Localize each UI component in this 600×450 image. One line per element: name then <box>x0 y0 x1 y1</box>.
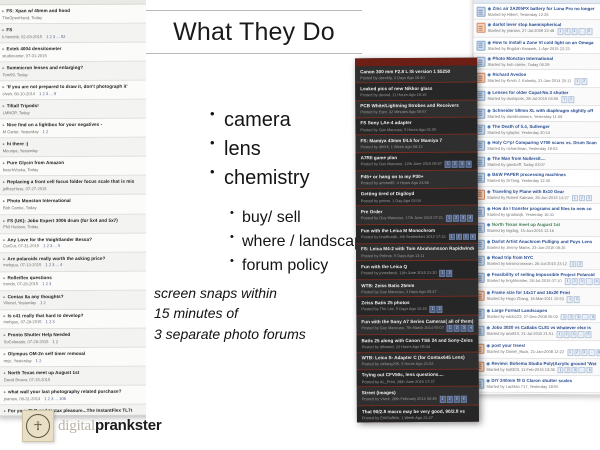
pagination-links[interactable]: 12 <box>570 261 584 268</box>
thread-title[interactable]: PCB White/Lightning Strobes and Receiver… <box>360 103 473 109</box>
right-thread-row[interactable]: ◉Traveling by Plane with 8x10 GearStarte… <box>473 186 600 204</box>
logo-wordmark: digitalprankster <box>58 417 162 435</box>
thread-body: ◉B&W PAPER processing machinesStarted by… <box>487 172 600 184</box>
pagination-links[interactable]: 1 2 <box>43 129 49 134</box>
pagination-page[interactable]: 2 <box>574 296 580 303</box>
thread-meta: David Brown, 07-15-2015 <box>4 376 143 382</box>
thread-meta: Posted by jonesbeck, 11th June 2015 21:3… <box>361 270 474 277</box>
thread-title[interactable]: ◉Large Format Landscapes <box>487 308 600 314</box>
left-thread-row[interactable]: ▸Nice find on a lightbox for your negati… <box>0 119 147 139</box>
pagination-page[interactable]: 1 <box>574 78 580 85</box>
thread-meta: Started by davidmariners, Yesterday 11:0… <box>487 113 600 119</box>
thread-meta: Posted by Pebrus, 5 Days Ago 13:11 <box>361 252 474 258</box>
pagination-links[interactable]: 123...6 <box>558 367 594 374</box>
thread-marker-icon: ▸ <box>3 123 5 128</box>
pagination-links[interactable]: 1 2 3 ... 4 <box>45 262 62 267</box>
thread-meta: trondo, 07-28-20151 2 3 <box>3 281 142 287</box>
thread-marker-icon: ▸ <box>3 199 5 204</box>
right-thread-row[interactable]: ◉Lenses for older Copal-No.3 shutterStar… <box>473 88 600 106</box>
thread-read-icon <box>476 91 485 101</box>
thread-title[interactable]: ◉Jobo 3020 vs Catlabs CL81 vs whatever e… <box>487 325 600 331</box>
thread-meta: Posted by dwood, 11 Hours Ago 19:10 <box>360 92 473 98</box>
pagination-page[interactable]: 1 <box>561 96 567 103</box>
pagination-page[interactable]: 2 <box>447 270 453 277</box>
pagination-page[interactable]: 2 <box>568 96 574 103</box>
thread-title[interactable]: ▸Any Love for the Voightlander Bessa? <box>3 236 142 242</box>
thread-marker-icon: ▸ <box>3 256 5 261</box>
left-thread-row[interactable]: ▸Summicron lenses and enlarging?Tom99, T… <box>0 62 146 82</box>
thread-body: ◉Frame size for 14x17 and 16x20 PrintSta… <box>487 290 600 303</box>
pagination-links[interactable]: 1 2 <box>52 339 58 344</box>
pagination-page[interactable]: 1 <box>567 296 573 303</box>
pagination-page[interactable]: ... <box>579 367 586 374</box>
pagination-page[interactable]: ... <box>577 332 584 339</box>
dark-thread-row[interactable]: FS: Leica M4-2 with Tom Abrahamsson Rapi… <box>356 244 478 262</box>
thread-meta: Posted by drlowed, 23 Hours Ago 05:44 <box>362 344 475 350</box>
thread-meta: Started by bob carnie, Today 06:29 <box>487 62 600 68</box>
left-thread-row[interactable]: ▸Tiltall Tripods!LMNOP, Today <box>0 100 147 120</box>
pagination-page[interactable]: 1 <box>567 349 573 356</box>
pagination-page[interactable]: 4 <box>466 161 472 168</box>
thread-meta: Started by Jimmy Maths, 23-Jun-2015 09:2… <box>487 244 600 250</box>
thread-title[interactable]: ◉Holy Cr*p! Comparing V700 scans vs. Dru… <box>487 140 600 146</box>
pagination-page[interactable]: 1 <box>430 306 436 313</box>
right-thread-row[interactable]: ◉Richard AvedonStarted by Kevin J. Kolos… <box>473 70 600 88</box>
pagination-links[interactable]: 123...9 <box>561 314 597 321</box>
thread-body: ◉Large Format LandscapesStarted by eddo1… <box>487 308 600 321</box>
thread-meta: Mounpa, Yesterday <box>3 148 142 154</box>
thread-status-icon: ◉ <box>486 378 490 383</box>
right-forum-screenshot[interactable]: ◉Zinc air 2A205PX battery for Luna Pro n… <box>471 0 600 395</box>
right-thread-row[interactable]: ◉How to install a Zone VI cold light on … <box>473 38 600 55</box>
pagination-page[interactable]: 6 <box>594 279 600 286</box>
dark-thread-row[interactable]: Trying out CFV50c, lens questions....Pos… <box>357 370 479 388</box>
thread-marker-icon: ▸ <box>2 8 4 13</box>
thread-title[interactable]: ◉Schneider 58mm XL with diaphragm slight… <box>487 107 600 113</box>
dark-thread-row[interactable]: Fun with the Sony A7 Series Cameras( all… <box>356 316 478 336</box>
thread-unread-icon <box>476 73 485 83</box>
dark-thread-row[interactable]: Zeiss Batis 25 photosPosted by The Lite,… <box>356 297 478 317</box>
dark-thread-row[interactable]: FS: Mamiya 43mm f/4.5 for Mamiya 7Posted… <box>355 135 477 153</box>
pagination-page[interactable]: 1 <box>565 279 571 286</box>
pagination-page[interactable]: 4 <box>470 233 476 240</box>
thread-meta: TheOpenHand, Today <box>2 14 141 20</box>
dark-thread-row[interactable]: Batis 25 along with Canon TSE 24 and Son… <box>356 335 478 353</box>
pagination-page[interactable]: 2 <box>437 306 443 313</box>
pagination-page[interactable]: 2 <box>565 367 571 374</box>
thread-meta: Posted by AL_Print, 28th June 2015 17:37 <box>362 378 475 384</box>
thread-title[interactable]: ▸Summicron lenses and enlarging? <box>2 65 141 71</box>
dark-thread-row[interactable]: That 90/2.8 macro may be very good, 90/2… <box>357 406 479 423</box>
thread-title[interactable]: ◉North Texas meet up August 1st <box>487 222 600 228</box>
pagination-links[interactable]: 123...8 <box>567 349 600 356</box>
left-thread-row[interactable]: ▸Are polaroids really worth the asking p… <box>0 252 147 272</box>
thread-meta: Posted by ErikSaffeln, 1 Week Ago 21:27 <box>362 415 475 421</box>
pagination-links[interactable]: 1234 <box>440 396 468 403</box>
right-thread-row[interactable]: ◉Schneider 58mm XL with diaphragm slight… <box>473 105 600 122</box>
thread-title[interactable]: ◉Traveling by Plane with 8x10 Gear <box>487 188 600 194</box>
thread-meta: Phil Hudson, Today <box>3 224 142 230</box>
pagination-page[interactable]: 3 <box>570 332 576 339</box>
thread-title[interactable]: ▸Pronto Shutter Help Needed <box>4 331 143 337</box>
right-thread-row[interactable]: ◉The Man from Nollerslt....Started by ga… <box>473 154 600 171</box>
pagination-page[interactable]: 3 <box>461 325 467 332</box>
thread-title[interactable]: ▸FS <box>2 27 141 33</box>
pagination-page[interactable]: 1 <box>558 367 564 374</box>
right-thread-row[interactable]: ◉A film about Eadweard Muybridge...Start… <box>472 392 600 395</box>
thread-title[interactable]: ◉Photo Moncton International <box>487 56 600 62</box>
dark-thread-row[interactable]: A7RII game planPosted by Gus Marcuso, 12… <box>356 152 478 172</box>
pagination-page[interactable]: 2 <box>574 349 580 356</box>
dark-thread-row[interactable]: WTB: Zeiss Batis 25mmPosted by Guy Mancu… <box>356 280 478 298</box>
thread-title[interactable]: ◉How do I transfer programs and files to… <box>487 206 600 212</box>
pagination-page[interactable]: 3 <box>571 28 577 35</box>
thread-marker-icon: ▸ <box>2 46 4 51</box>
thread-title[interactable]: ▸Is c41 really that hard to develop? <box>3 312 142 318</box>
right-thread-row[interactable]: ◉DIY 240mm f9 G Claron shutter scalesSta… <box>472 376 600 393</box>
thread-meta: jeffreyHess, 07-27-2015 <box>3 186 142 192</box>
pagination-links[interactable]: 1 2 3 ... 106 <box>44 396 66 401</box>
pagination-links[interactable]: 1 2 3 ... 5 <box>43 243 60 248</box>
thread-read-icon <box>476 108 485 118</box>
pagination-page[interactable]: 3 <box>463 233 469 240</box>
right-thread-row[interactable]: ◉The Death of 5.4, SullengerStarted by i… <box>473 122 600 139</box>
right-thread-row[interactable]: ◉Road trip from NYCStarted by baroncross… <box>473 253 600 271</box>
pagination-links[interactable]: 12 <box>440 270 454 277</box>
thread-marker-icon: ▸ <box>4 370 6 375</box>
thread-meta: clvsh, 08-10-20141 2 3 ... 9 <box>3 91 142 97</box>
thread-meta: Started by Hibert, Yesterday 12:26 <box>488 12 600 18</box>
dark-thread-row[interactable]: FS Sony LAe-4 adapterPosted by Gus Marcu… <box>355 118 477 136</box>
pagination-page[interactable]: 9 <box>590 314 596 321</box>
thread-title[interactable]: ▸Contax IIa any thoughts? <box>3 293 142 299</box>
thread-body: ◉How do I transfer programs and files to… <box>487 206 600 218</box>
thread-title[interactable]: ▸Are polaroids really worth the asking p… <box>3 255 142 261</box>
thread-title[interactable]: ▸hi there :) <box>3 141 142 147</box>
thread-meta: Started by ignatiusjb, Yesterday 16:41 <box>487 212 600 218</box>
right-thread-row[interactable]: ◉Feasibility of selling Impossible Proje… <box>473 270 600 288</box>
thread-status-icon: ◉ <box>487 272 491 277</box>
right-thread-row[interactable]: ◉Darlot Artist Anachrom Pulligny and Puy… <box>473 236 600 253</box>
pagination-links[interactable]: 1 2 <box>36 358 42 363</box>
pagination-links[interactable]: 1 2 3 ... 9 <box>39 91 56 96</box>
thread-status-icon: ◉ <box>487 255 491 260</box>
pagination-links[interactable]: 1 2 3 <box>46 320 55 325</box>
thread-status-icon: ◉ <box>487 308 491 313</box>
thread-title[interactable]: ◉B&W PAPER processing machines <box>487 172 600 178</box>
right-thread-row[interactable]: ◉How do I transfer programs and files to… <box>473 204 600 221</box>
pagination-page[interactable]: 2 <box>579 195 585 202</box>
thread-title[interactable]: ◉The Man from Nollerslt.... <box>487 156 600 162</box>
thread-meta: Started by bigdog, 15-Jun-2015 12:16 <box>487 228 600 234</box>
right-thread-list: ◉Zinc air 2A205PX battery for Luna Pro n… <box>472 4 600 395</box>
pagination-page[interactable]: 2 <box>568 314 574 321</box>
pagination-page[interactable]: 4 <box>461 396 467 403</box>
thread-meta: Posted by peters, 1 Day Ago 02:04 <box>361 197 474 203</box>
thread-title[interactable]: ▸Extek 4004 densitometer <box>2 46 141 52</box>
left-thread-row[interactable]: ▸'If you are not prepared to draw it, do… <box>0 81 147 101</box>
pagination-links[interactable]: 12 <box>567 296 581 303</box>
left-thread-row[interactable]: ▸Is c41 really that hard to develop?mehg… <box>0 309 148 329</box>
pagination-page[interactable]: 2 <box>581 78 587 85</box>
pagination-page[interactable]: 1 <box>445 161 451 168</box>
dark-thread-row[interactable]: WTB: Leica S- Adapter C (for Contax645 L… <box>357 352 479 370</box>
pagination-page[interactable]: 2 <box>577 261 583 268</box>
thread-meta: jnanian, 08-31-20141 2 3 ... 106 <box>4 395 143 401</box>
thread-title[interactable]: ▸FS (UK): Jobo Expert 3006 drum (for 5x4… <box>3 217 142 223</box>
thread-title[interactable]: ◉post your trees! <box>486 343 600 349</box>
left-thread-row[interactable]: ▸Any Love for the Voightlander Bessa?Cut… <box>0 233 147 253</box>
page-title: What They Do <box>146 10 362 54</box>
thread-status-icon: ◉ <box>487 325 491 330</box>
thread-meta: Posted by Egor, 32 Minutes Ago 05:57 <box>360 109 473 115</box>
pagination-page[interactable]: 2 <box>456 234 462 241</box>
pagination-page[interactable]: 1 <box>440 270 446 277</box>
pagination-page[interactable]: ... <box>578 28 585 35</box>
dark-thread-row[interactable]: Getting tired of DigiloydPosted by peter… <box>356 188 478 206</box>
left-thread-row[interactable]: ▸Pronto Shutter Help NeededSoColorado, 0… <box>0 328 148 348</box>
logo-emblem-icon: ☥ <box>22 410 54 442</box>
thread-title[interactable]: ◉Darlot Artist Anachrom Pulligny and Puy… <box>487 238 600 244</box>
thread-status-icon: ◉ <box>487 107 491 112</box>
pagination-page[interactable]: 8 <box>596 349 600 356</box>
pagination-page[interactable]: 1 <box>447 325 453 332</box>
thread-title[interactable]: WTB: Leica S- Adapter C (for Contax645 L… <box>362 355 475 361</box>
logo-word-bold: prankster <box>95 417 162 434</box>
left-thread-list: ▸FS: Xpan w/ 45mm and hoodTheOpenHand, T… <box>0 5 148 417</box>
thread-marker-icon: ▸ <box>4 332 6 337</box>
left-forum-screenshot[interactable]: ▸FS: Xpan w/ 45mm and hoodTheOpenHand, T… <box>0 0 149 416</box>
thread-title[interactable]: FS: Leica M4-2 with Tom Abrahamsson Rapi… <box>361 246 474 252</box>
thread-title[interactable]: ▸what wall your last photography related… <box>4 389 143 395</box>
pagination-links[interactable]: 123...6 <box>565 279 600 286</box>
thread-meta: Posted by Guy Mancuso, 17th June 2015 07… <box>361 215 474 222</box>
dark-thread-row[interactable]: Pre OrderPosted by Guy Mancuso, 17th Jun… <box>356 206 478 226</box>
pagination-page[interactable]: 1 <box>557 28 563 35</box>
slide-content: What They Do cameralenschemistry buy/ se… <box>146 0 362 450</box>
thread-meta: Posted by Vivek, 26th February 2012 06:4… <box>362 396 475 403</box>
thread-title[interactable]: ◉A film about Eadweard Muybridge... <box>486 394 600 395</box>
pagination-page[interactable]: 3 <box>586 195 592 202</box>
pagination-page[interactable]: 1 <box>440 396 446 403</box>
right-thread-row[interactable]: ◉Frame size for 14x17 and 16x20 PrintSta… <box>473 288 600 306</box>
pagination-page[interactable]: 2 <box>572 279 578 286</box>
center-forum-screenshot[interactable]: Canon 300 mm F2.8 L IS version 1 $5250Po… <box>355 58 479 423</box>
thread-title[interactable]: ▸Nice find on a lightbox for your negati… <box>3 122 142 128</box>
thread-body: ◉Jobo 3020 vs Catlabs CL81 vs whatever e… <box>487 325 600 338</box>
pagination-page[interactable]: 6 <box>587 367 593 374</box>
thread-title[interactable]: ▸Tiltall Tripods! <box>3 103 142 109</box>
thread-body: ◉The Man from Nollerslt....Started by ga… <box>487 156 600 168</box>
thread-title[interactable]: ◉Review: Bohema Studio Poly(Acrylic grou… <box>486 361 600 367</box>
left-thread-row[interactable]: ▸Extek 4004 densitometerstudiocarter, 07… <box>0 43 146 63</box>
thread-marker-icon: ▸ <box>3 237 5 242</box>
pagination-page[interactable]: 3 <box>579 279 585 286</box>
pagination-page[interactable]: 1 <box>446 215 452 222</box>
thread-title[interactable]: ▸Photo Moncton International <box>3 198 142 204</box>
thread-unread-icon <box>477 23 486 33</box>
pagination-links[interactable]: 1234 <box>445 161 473 168</box>
thread-title[interactable]: ◉DIY 240mm f9 G Claron shutter scales <box>486 378 600 384</box>
dark-thread-row[interactable]: Fun with the Leica M MonochromPosted by … <box>356 225 478 245</box>
thread-meta: Tom99, Today <box>2 72 141 78</box>
right-thread-row[interactable]: ◉post your trees!Started by Daniel_Buck,… <box>472 341 600 359</box>
left-thread-row[interactable]: ▸FS (UK): Jobo Expert 3006 drum (for 5x4… <box>0 214 147 234</box>
right-thread-row[interactable]: ◉B&W PAPER processing machinesStarted by… <box>473 170 600 187</box>
thread-title[interactable]: ▸FS: Xpan w/ 45mm and hood <box>2 8 141 14</box>
left-thread-row[interactable]: ▸Pure Glycin from AmazonbeachVoska, Toda… <box>0 157 147 177</box>
left-thread-row[interactable]: ▸FS: Xpan w/ 45mm and hoodTheOpenHand, T… <box>0 5 146 25</box>
thread-status-icon: ◉ <box>488 40 492 45</box>
thread-title[interactable]: That 90/2.8 macro may be very good, 90/2… <box>362 408 475 414</box>
thread-status-icon: ◉ <box>487 156 491 161</box>
thread-title[interactable]: ▸Olympus OM-2n self timer removal <box>4 351 143 357</box>
pagination-page[interactable]: 2 <box>564 28 570 35</box>
pagination-page[interactable]: 1 <box>561 314 567 321</box>
dark-thread-row[interactable]: Leaked pics of new Nikkor glassPosted by… <box>355 83 477 101</box>
pagination-links[interactable]: 123...5 <box>557 28 593 35</box>
thread-status-icon: ◉ <box>486 343 490 348</box>
thread-body: ◉The Death of 5.4, SullengerStarted by i… <box>487 124 600 136</box>
pagination-page[interactable]: 1 <box>572 195 578 202</box>
pagination-links[interactable]: 1234 <box>446 215 474 222</box>
thread-status-icon: ◉ <box>488 6 492 11</box>
pagination-page[interactable]: ... <box>588 349 595 356</box>
pagination-page[interactable]: 4 <box>468 325 474 332</box>
dark-thread-row[interactable]: PCB White/Lightning Strobes and Receiver… <box>355 100 477 118</box>
dark-thread-row[interactable]: Fun with the Leica QPosted by jonesbeck,… <box>356 261 478 281</box>
right-thread-row[interactable]: ◉darlot lever stop haemisphericalStarted… <box>474 20 600 38</box>
left-thread-row[interactable]: ▸Contax IIa any thoughts?Vlionel, Yester… <box>0 290 147 310</box>
left-thread-row[interactable]: ▸Olympus OM-2n self timer removalmrjc, Y… <box>0 348 148 368</box>
thread-body: ◉Holy Cr*p! Comparing V700 scans vs. Dru… <box>487 140 600 152</box>
pagination-page[interactable]: 3 <box>454 396 460 403</box>
right-thread-row[interactable]: ◉Zinc air 2A205PX battery for Luna Pro n… <box>474 4 600 21</box>
pagination-page[interactable]: 2 <box>447 396 453 403</box>
thread-title[interactable]: ▸Replacing a front cell focus folder foc… <box>3 179 142 185</box>
pagination-page[interactable]: 3 <box>460 215 466 222</box>
pagination-page[interactable]: 2 <box>452 161 458 168</box>
thread-title[interactable]: ▸Rolleiflex questions <box>3 274 142 280</box>
thread-body: ◉Darlot Artist Anachrom Pulligny and Puy… <box>487 238 600 250</box>
thread-body: ◉DIY 240mm f9 G Claron shutter scalesSta… <box>486 378 600 390</box>
left-thread-row[interactable]: ▸North Texas meet up August 1stDavid Bro… <box>0 367 148 387</box>
pagination-page[interactable]: 1 <box>570 261 576 268</box>
thread-title[interactable]: ◉Feasibility of selling Impossible Proje… <box>487 272 600 278</box>
pagination-page[interactable]: 1 <box>556 331 562 338</box>
thread-title[interactable]: ◉Richard Avedon <box>487 72 600 78</box>
thread-meta: CutCut, 07-31-20151 2 3 ... 5 <box>3 243 142 249</box>
thread-title[interactable]: ◉darlot lever stop haemispherical <box>488 22 600 28</box>
thread-meta: Posted by bradhutzik, 4th September 2012… <box>361 233 474 240</box>
left-thread-row[interactable]: ▸Rolleiflex questionstrondo, 07-28-20151… <box>0 271 147 291</box>
dark-thread-row[interactable]: Canon 300 mm F2.8 L IS version 1 $5250Po… <box>355 66 477 84</box>
thread-title[interactable]: ◉Frame size for 14x17 and 16x20 Print <box>487 290 600 296</box>
thread-title[interactable]: ▸Pure Glycin from Amazon <box>3 160 142 166</box>
thread-status-icon: ◉ <box>487 238 491 243</box>
thread-body: ◉How to install a Zone VI cold light on … <box>488 40 600 52</box>
pagination-links[interactable]: 1234 <box>449 233 477 240</box>
title-rule-bottom <box>146 53 362 54</box>
thread-status-icon: ◉ <box>488 22 492 27</box>
thread-meta: SoColorado, 07-28-20151 2 <box>4 338 143 344</box>
pagination-page[interactable]: 2 <box>453 215 459 222</box>
dark-thread-list: Canon 300 mm F2.8 L IS version 1 $5250Po… <box>355 66 479 423</box>
thread-title[interactable]: ◉How to install a Zone VI cold light on … <box>488 40 600 46</box>
thread-meta: Started by igtaylor, Yesterday 20:14 <box>487 130 600 136</box>
left-thread-row[interactable]: ▸what wall your last photography related… <box>0 386 148 406</box>
thread-meta: M Carter, Yesterday1 2 <box>3 129 142 135</box>
thread-title[interactable]: ◉The Death of 5.4, Sullenger <box>487 124 600 130</box>
dark-thread-row[interactable]: Street (images)Posted by Vivek, 26th Feb… <box>357 387 479 407</box>
pagination-page[interactable]: ... <box>586 279 593 286</box>
pagination-page[interactable]: 2 <box>454 325 460 332</box>
pagination-page[interactable]: 3 <box>459 161 465 168</box>
right-thread-row[interactable]: ◉North Texas meet up August 1stStarted b… <box>473 220 600 237</box>
pagination-links[interactable]: 123...5 <box>556 331 592 338</box>
thread-meta: Started by Daniel_Buck, 21-Jan-2008 12:2… <box>486 349 600 356</box>
caption-line: screen snaps within <box>154 283 364 303</box>
left-thread-row[interactable]: ▸FSk.hendrik, 02-03-20151 2 3 ... 52 <box>0 24 146 44</box>
pagination-page[interactable]: 4 <box>467 215 473 222</box>
pagination-page[interactable]: 3 <box>581 349 587 356</box>
pagination-page[interactable]: 3 <box>572 367 578 374</box>
thread-marker-icon: ▸ <box>3 294 5 299</box>
thread-title[interactable]: ◉Road trip from NYC <box>487 255 600 261</box>
right-thread-row[interactable]: ◉Large Format LandscapesStarted by eddo1… <box>473 306 600 324</box>
thread-meta: beachVoska, Today <box>3 167 142 173</box>
thread-status-icon: ◉ <box>487 188 491 193</box>
dark-thread-row[interactable]: P45+ or hang on to my P30+Posted by arto… <box>356 171 478 189</box>
right-thread-row[interactable]: ◉Holy Cr*p! Comparing V700 scans vs. Dru… <box>473 138 600 155</box>
pagination-links[interactable]: 1234 <box>447 325 475 332</box>
pagination-page[interactable]: ... <box>582 314 589 321</box>
left-thread-row[interactable]: ▸Photo Moncton InternationalBob Carnie, … <box>0 195 147 215</box>
slide-canvas: ▸FS: Xpan w/ 45mm and hoodTheOpenHand, T… <box>0 0 600 450</box>
pagination-page[interactable]: 1 <box>449 234 455 241</box>
logo-word-light: digital <box>58 418 95 434</box>
pagination-page[interactable]: 5 <box>586 28 592 35</box>
pagination-links[interactable]: 1 2 <box>40 301 46 306</box>
pagination-page[interactable]: 5 <box>585 332 591 339</box>
right-thread-row[interactable]: ◉Photo Moncton InternationalStarted by b… <box>473 54 600 71</box>
pagination-page[interactable]: 2 <box>563 332 569 339</box>
thread-marker-icon: ▸ <box>3 161 5 166</box>
right-thread-row[interactable]: ◉Jobo 3020 vs Catlabs CL81 vs whatever e… <box>472 323 600 341</box>
thread-title[interactable]: ◉Lenses for older Copal-No.3 shutter <box>487 90 600 96</box>
thread-title[interactable]: ▸North Texas meet up August 1st <box>4 370 143 376</box>
thread-meta: Started by richardman, Yesterday 19:53 <box>487 146 600 152</box>
pagination-links[interactable]: 1 2 3 ... 52 <box>46 34 65 39</box>
thread-meta: Started by gandorff, Today 03:07 <box>487 162 600 168</box>
thread-meta: Posted by artone85, 4 Hours Ago 23:58 <box>361 180 474 186</box>
left-thread-row[interactable]: ▸Replacing a front cell focus folder foc… <box>0 176 147 196</box>
pagination-links[interactable]: 123 <box>572 195 593 202</box>
pagination-links[interactable]: 12 <box>561 96 575 103</box>
pagination-links[interactable]: 12 <box>574 78 588 85</box>
thread-marker-icon: ▸ <box>2 84 4 89</box>
thread-status-icon: ◉ <box>487 290 491 295</box>
left-thread-row[interactable]: ▸hi there :)Mounpa, Yesterday <box>0 138 147 158</box>
thread-status-icon: ◉ <box>486 394 490 395</box>
pagination-links[interactable]: 1 2 3 <box>42 281 51 286</box>
thread-title[interactable]: ▸'If you are not prepared to draw it, do… <box>2 84 141 90</box>
thread-title[interactable]: ◉Zinc air 2A205PX battery for Luna Pro n… <box>488 6 600 12</box>
thread-meta: Posted by dsecklg, 3 Days Ago 16:40 <box>360 74 473 80</box>
pagination-page[interactable]: 3 <box>575 314 581 321</box>
right-thread-row[interactable]: ◉Review: Bohema Studio Poly(Acrylic grou… <box>472 359 600 377</box>
pagination-links[interactable]: 12 <box>430 306 444 313</box>
